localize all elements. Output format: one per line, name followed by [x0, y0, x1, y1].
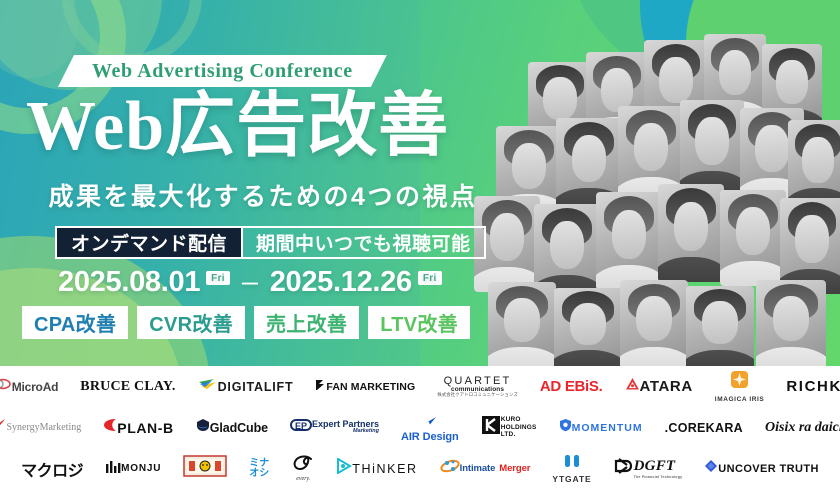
date-start-wrap: 2025.08.01Fri	[58, 266, 230, 299]
ep-sub2: Marketing	[312, 429, 379, 435]
monju-icon	[105, 460, 121, 478]
date-start: 2025.08.01	[58, 266, 200, 298]
event-ribbon: Web Advertising Conference	[58, 55, 387, 87]
logo-label: MOMENTUM	[572, 422, 643, 434]
topic-tag-label: CVR改善	[149, 308, 233, 337]
event-date-range: 2025.08.01Fri – 2025.12.26Fri	[58, 266, 478, 299]
logo-label: Expert Partners Marketing	[312, 420, 379, 435]
imagica-iris-icon	[730, 370, 749, 394]
logo-label: MONJU	[121, 463, 161, 474]
logo-label: .COREKARA	[665, 421, 743, 435]
adebis-text: AD EBiS.	[540, 378, 603, 395]
logo-label: AD EBiS.	[540, 378, 603, 395]
logo-label: KUROHOLDINGSLTD.	[501, 416, 537, 438]
logo-expert-partners: EP Expert Partners Marketing	[279, 411, 390, 445]
logo-label: ATARA	[640, 378, 693, 395]
logo-adebis: AD EBiS.	[529, 370, 614, 404]
ytgate-icon	[564, 454, 580, 473]
logo-minaoshi: ミナオシ	[238, 452, 280, 486]
logo-label: YTGATE	[552, 474, 591, 484]
thinker-icon	[337, 458, 352, 479]
ribbon-label: Web Advertising Conference	[92, 60, 353, 83]
speaker-photo-collage	[468, 0, 840, 366]
badge-group: オンデマンド配信 期間中いつでも視聴可能	[55, 226, 486, 259]
logo-plan-b: PLAN-B	[92, 411, 184, 445]
logo-label: THiNKER	[352, 462, 417, 476]
kuro-holdings-icon	[481, 415, 501, 440]
logo-label: Oisix ra daichi	[765, 420, 840, 436]
sponsor-logo-row: マクロジ MONJU ミナオシ every.	[0, 448, 840, 489]
logo-fan-marketing: FAN MARKETING	[304, 370, 426, 404]
logo-label: FAN MARKETING	[326, 381, 415, 393]
logo-imagica-iris: IMAGICA IRIS	[704, 370, 776, 404]
topic-tag-label: 売上改善	[266, 308, 347, 337]
microad-icon	[0, 377, 12, 396]
logo-intimate-merger: IntimateMerger	[429, 452, 542, 486]
logo-label: MicroAd	[12, 380, 59, 394]
speaker-portrait	[686, 286, 754, 366]
speaker-portrait	[756, 280, 826, 366]
topic-tag-sales: 売上改善	[254, 306, 359, 339]
logo-every: every.	[280, 452, 326, 486]
logo-corekara: .COREKARA	[654, 411, 754, 445]
speaker-portrait	[658, 184, 724, 282]
sponsor-logo-row: MicroAd BRUCE CLAY. DIGITALIFT FAN MARKE…	[0, 366, 840, 407]
logo-kuro-holdings: KUROHOLDINGSLTD.	[470, 411, 548, 445]
speaker-portrait	[554, 288, 622, 366]
date-separator: –	[242, 266, 258, 299]
logo-label: DGFT The Financial Technology	[634, 458, 683, 479]
topic-tag-label: CPA改善	[34, 308, 116, 337]
logo-label: IntimateMerger	[460, 463, 531, 474]
topic-tag-label: LTV改善	[380, 308, 458, 337]
topic-tag-cpa: CPA改善	[22, 306, 128, 339]
speaker-portrait	[720, 190, 786, 286]
dgft-icon	[614, 458, 634, 479]
dgft-main: DGFT	[634, 458, 676, 474]
gladcube-icon	[196, 418, 210, 437]
logo-label: UNCOVER TRUTH	[718, 463, 819, 475]
conference-banner: Web Advertising Conference Web広告改善 成果を最大…	[0, 0, 840, 490]
status-badge-ondemand: オンデマンド配信	[55, 226, 241, 259]
logo-synergy-marketing: SynergyMarketing	[0, 411, 92, 445]
fan-marketing-icon	[315, 378, 326, 396]
momentum-icon	[559, 418, 572, 437]
logo-oisix-ra-daichi: Oisix ra daichi	[754, 411, 840, 445]
logo-label: every.	[296, 476, 310, 482]
logo-label: DIGITALIFT	[218, 380, 294, 394]
every-icon	[291, 455, 315, 476]
logo-label: マクロジ	[21, 457, 83, 481]
topic-tag-cvr: CVR改善	[137, 306, 245, 339]
kanban-icon	[183, 455, 227, 482]
plan-b-icon	[103, 418, 117, 437]
page-title: Web広告改善	[26, 92, 496, 162]
logo-atara: ATARA	[614, 370, 704, 404]
status-badge-availability: 期間中いつでも視聴可能	[241, 226, 486, 259]
speaker-portrait	[680, 100, 744, 196]
sponsor-logo-section: MicroAd BRUCE CLAY. DIGITALIFT FAN MARKE…	[0, 366, 840, 490]
logo-digitalift: DIGITALIFT	[187, 370, 305, 404]
logo-label: PLAN-B	[117, 420, 173, 436]
logo-label: GladCube	[210, 421, 268, 435]
intimate-merger-icon	[440, 457, 460, 480]
logo-kanban	[172, 452, 238, 486]
logo-label: QUARTET communications 株式会社クアトロコミュニケーション…	[437, 376, 518, 398]
date-end: 2025.12.26	[270, 266, 412, 298]
page-subtitle: 成果を最大化するための4つの視点	[28, 177, 498, 213]
logo-momentum: MOMENTUM	[548, 411, 654, 445]
logo-air-design: AIR Design	[390, 411, 470, 445]
logo-richka: RICHKA	[775, 370, 840, 404]
logo-label: AIR Design	[401, 431, 459, 443]
logo-bruce-clay: BRUCE CLAY.	[69, 370, 186, 404]
logo-label: SynergyMarketing	[6, 422, 81, 433]
expert-partners-icon: EP	[290, 418, 312, 437]
quartet-main: QUARTET	[444, 375, 512, 387]
topic-tag-ltv: LTV改善	[368, 306, 470, 339]
logo-label: RICHKA	[786, 378, 840, 395]
logo-microad: MicroAd	[0, 370, 69, 404]
date-end-dow: Fri	[418, 271, 442, 285]
hero-content: Web Advertising Conference Web広告改善 成果を最大…	[0, 0, 500, 366]
logo-label: ミナオシ	[249, 459, 269, 479]
date-start-dow: Fri	[206, 271, 230, 285]
hero-section: Web Advertising Conference Web広告改善 成果を最大…	[0, 0, 840, 366]
digitalift-icon	[198, 376, 218, 397]
logo-ytgate: YTGATE	[541, 452, 602, 486]
atara-icon	[625, 377, 640, 396]
dgft-sub: The Financial Technology	[634, 475, 683, 479]
quartet-sub2: 株式会社クアトロコミュニケーションズ	[437, 393, 518, 397]
date-end-wrap: 2025.12.26Fri	[270, 266, 442, 299]
logo-macrosi: マクロジ	[10, 452, 94, 486]
logo-label: IMAGICA IRIS	[715, 396, 765, 403]
sponsor-logo-row: SynergyMarketing PLAN-B GladCube EP E	[0, 407, 840, 448]
logo-label: BRUCE CLAY.	[80, 379, 175, 395]
logo-quartet: QUARTET communications 株式会社クアトロコミュニケーション…	[426, 370, 529, 404]
topic-tag-group: CPA改善 CVR改善 売上改善 LTV改善	[22, 306, 470, 339]
speaker-portrait	[596, 192, 662, 290]
uncover-truth-icon	[704, 459, 718, 478]
logo-dgft: DGFT The Financial Technology	[603, 452, 694, 486]
speaker-portrait	[620, 280, 688, 366]
logo-gladcube: GladCube	[185, 411, 279, 445]
svg-text:EP: EP	[295, 421, 307, 431]
logo-monju: MONJU	[94, 452, 172, 486]
logo-uncover-truth: UNCOVER TRUTH	[693, 452, 830, 486]
air-design-icon	[423, 412, 437, 430]
logo-thinker: THiNKER	[326, 452, 428, 486]
